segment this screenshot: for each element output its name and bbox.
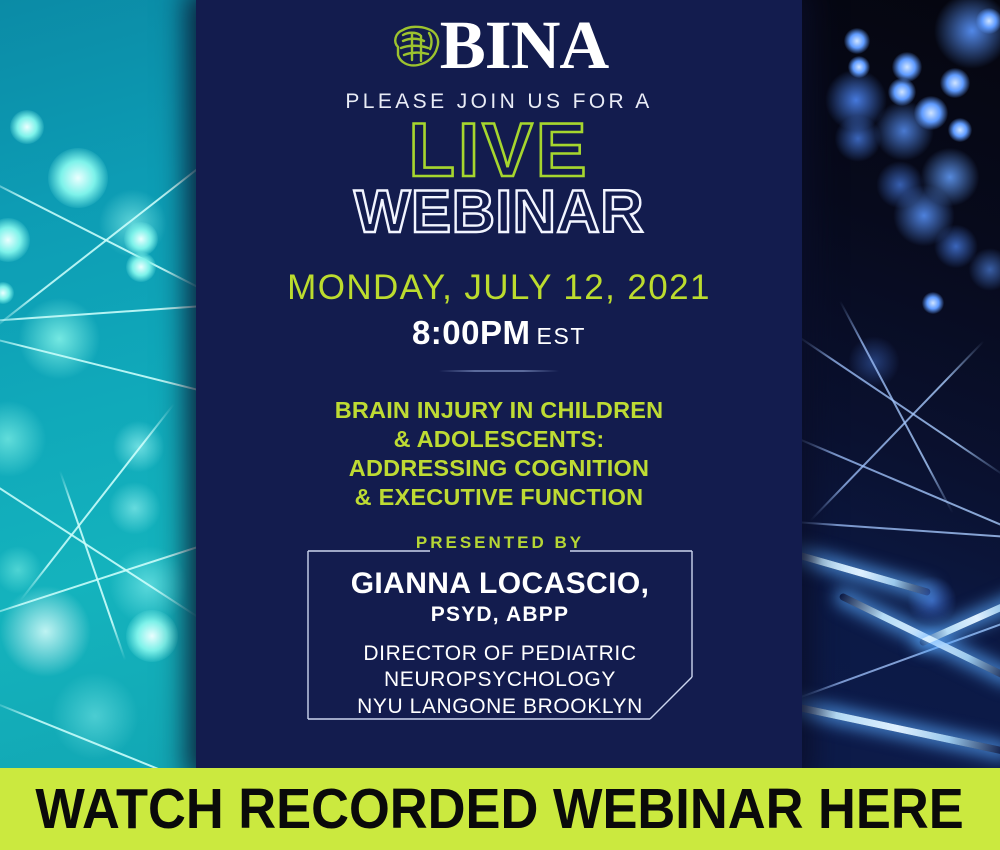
presenter-block: PRESENTED BY GIANNA LOCASCIO, PSYD, ABPP… [302,545,698,725]
webinar-poster: BINA PLEASE JOIN US FOR A LIVE WEBINAR M… [0,0,1000,850]
presenter-role-line: DIRECTOR OF PEDIATRIC [302,641,698,667]
network-line [809,340,984,521]
network-node [948,118,972,142]
background-right-network [800,0,1000,770]
webinar-heading: WEBINAR [196,182,802,242]
logo-text: BINA [440,13,609,79]
energy-streak [800,548,931,596]
network-line [0,298,198,324]
live-heading: LIVE [196,116,802,186]
presenter-role: DIRECTOR OF PEDIATRIC NEUROPSYCHOLOGY NY… [302,641,698,720]
network-node [10,110,44,144]
network-line [800,520,1000,543]
section-divider [439,370,559,372]
network-line [0,332,198,407]
network-node [124,222,158,256]
network-node [126,252,156,282]
network-node [976,8,1000,34]
presenter-role-line: NYU LANGONE BROOKLYN [302,694,698,720]
network-node [892,52,922,82]
poster-content: BINA PLEASE JOIN US FOR A LIVE WEBINAR M… [196,0,802,770]
cta-label: WATCH RECORDED WEBINAR HERE [36,776,964,842]
network-node [48,148,108,208]
event-time-value: 8:00PM [412,314,531,351]
brain-icon [390,24,442,70]
network-line [800,430,1000,549]
network-line [0,530,198,622]
network-line [19,403,174,601]
topic-line: ADDRESSING COGNITION [196,454,802,483]
background-left-network [0,0,198,770]
energy-streak [800,700,1000,755]
event-timezone: EST [537,323,587,349]
network-line [0,700,198,770]
network-node [0,282,14,304]
presenter-credentials: PSYD, ABPP [302,603,698,627]
network-node [126,610,178,662]
network-node [0,218,30,262]
network-node [848,56,870,78]
topic-title: BRAIN INJURY IN CHILDREN & ADOLESCENTS: … [196,396,802,512]
topic-line: & ADOLESCENTS: [196,425,802,454]
brand-logo: BINA [196,0,802,76]
network-node [922,292,944,314]
network-node [914,96,948,130]
network-line [0,455,198,620]
topic-line: BRAIN INJURY IN CHILDREN [196,396,802,425]
event-date: MONDAY, JULY 12, 2021 [196,268,802,308]
network-node [888,78,916,106]
watch-recorded-webinar-button[interactable]: WATCH RECORDED WEBINAR HERE [0,768,1000,850]
topic-line: & EXECUTIVE FUNCTION [196,483,802,512]
network-node [940,68,970,98]
event-time: 8:00PMEST [196,314,802,352]
energy-streak [838,592,1000,682]
center-panel: BINA PLEASE JOIN US FOR A LIVE WEBINAR M… [196,0,802,770]
presenter-name: GIANNA LOCASCIO, [302,567,698,601]
network-node [844,28,870,54]
presenter-role-line: NEUROPSYCHOLOGY [302,667,698,693]
presented-by-label: PRESENTED BY [302,533,698,553]
